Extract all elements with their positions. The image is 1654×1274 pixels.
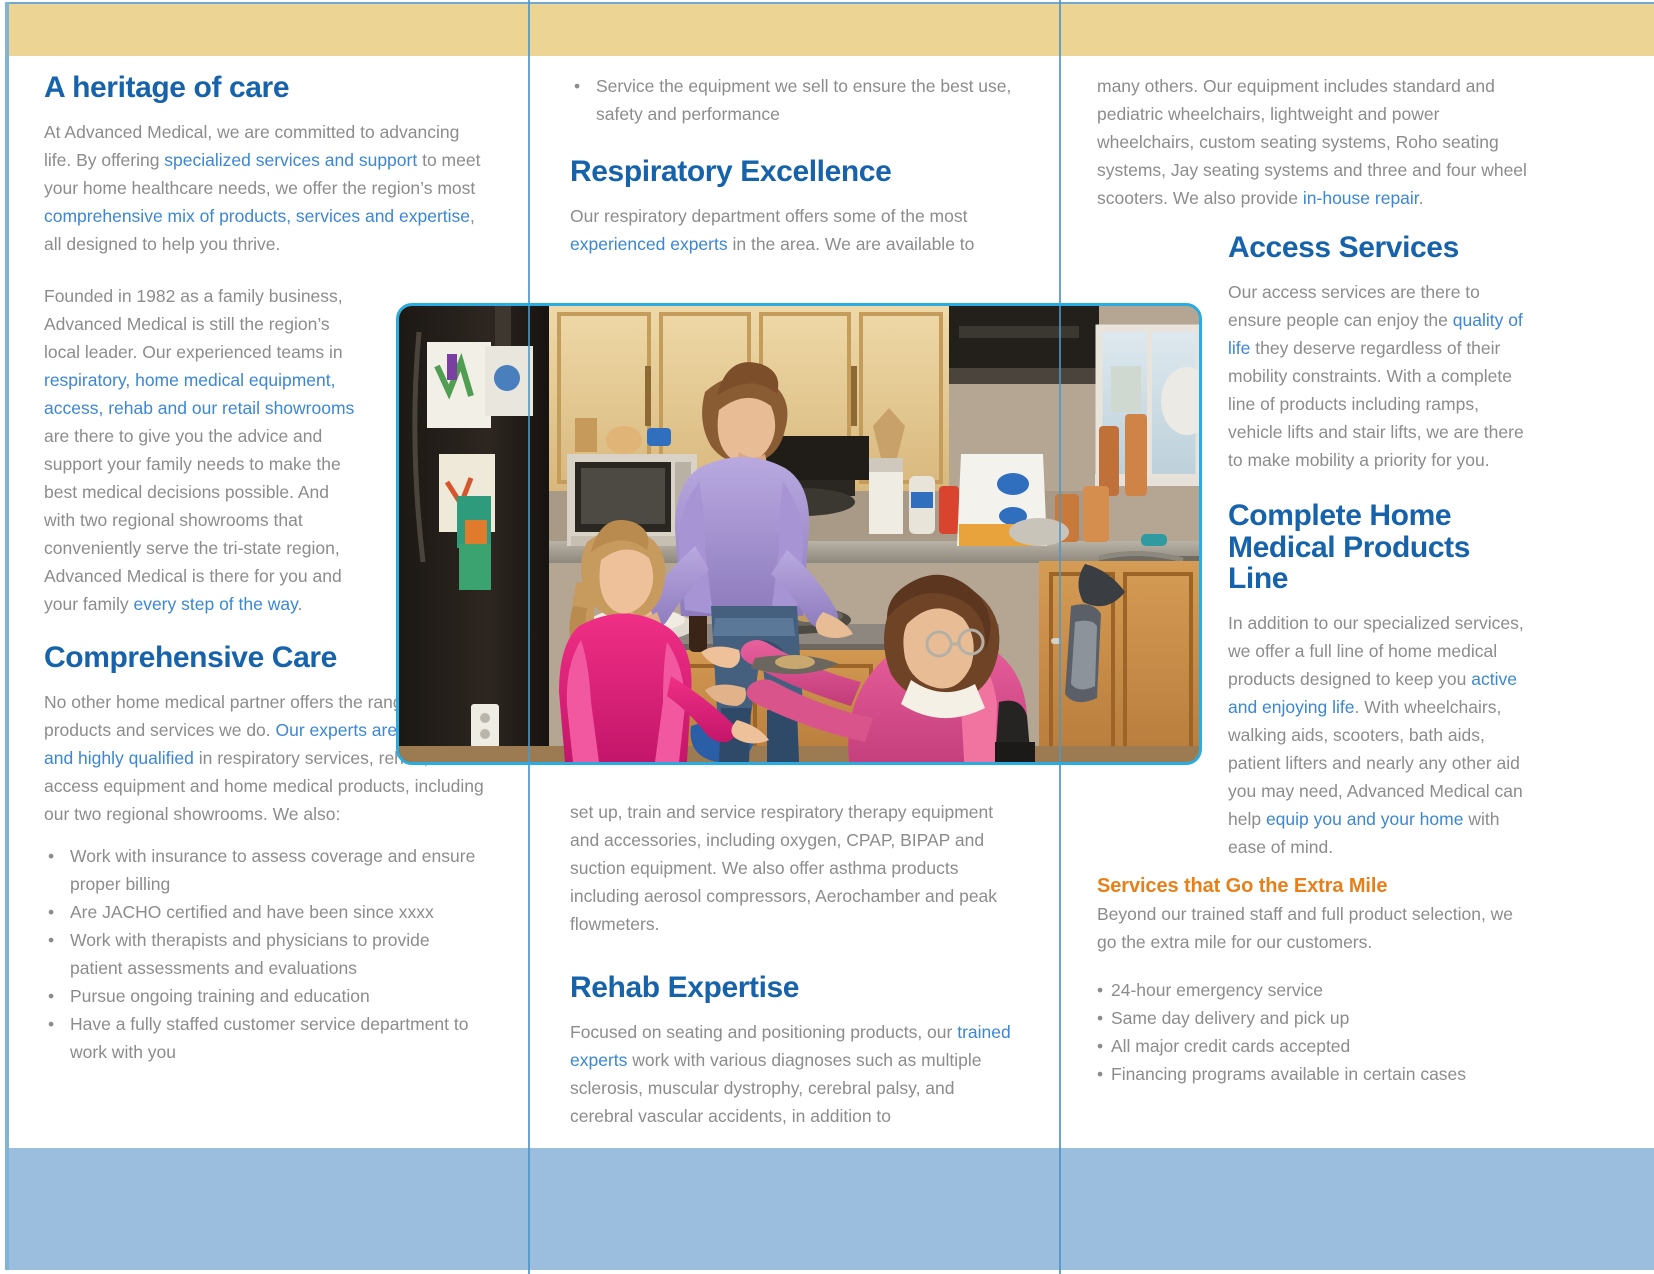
list-extra-services: •24-hour emergency service •Same day del… — [1097, 976, 1527, 1088]
left-edge-stripe — [5, 2, 9, 1270]
list-item: •Pursue ongoing training and education — [44, 982, 484, 1010]
list-item: •Same day delivery and pick up — [1097, 1004, 1527, 1032]
photo-fold-line-right — [1059, 306, 1061, 762]
bullet-dot-icon: • — [1097, 1060, 1103, 1088]
text-run: Our respiratory department offers some o… — [570, 206, 967, 226]
text-run: work with various diagnoses such as mult… — [570, 1050, 981, 1126]
text-run: Our access services are there to ensure … — [1228, 282, 1480, 330]
column-middle-top: •Service the equipment we sell to ensure… — [570, 72, 1015, 258]
list-item-label: Are JACHO certified and have been since … — [70, 902, 434, 922]
text-run: they deserve regardless of their mobilit… — [1228, 338, 1524, 470]
text-run: Founded in 1982 as a family business, Ad… — [44, 286, 343, 362]
bottom-blue-band — [8, 1148, 1654, 1270]
list-service-equipment: •Service the equipment we sell to ensure… — [570, 72, 1015, 128]
fold-line-left-top — [528, 0, 530, 303]
heading-rehab-expertise: Rehab Expertise — [570, 972, 1017, 1004]
list-item: •Financing programs available in certain… — [1097, 1060, 1527, 1088]
text-run: Focused on seating and positioning produ… — [570, 1022, 957, 1042]
link-comprehensive-mix[interactable]: comprehensive mix of products, services … — [44, 206, 470, 226]
list-item-label: Work with therapists and physicians to p… — [70, 930, 430, 978]
link-teams-list[interactable]: respiratory, home medical equipment, acc… — [44, 370, 354, 418]
list-item-label: Same day delivery and pick up — [1111, 1008, 1349, 1028]
top-cream-band — [8, 4, 1654, 56]
list-item-label: Have a fully staffed customer service de… — [70, 1014, 468, 1062]
heading-access-services: Access Services — [1228, 232, 1527, 264]
paragraph-rehab-detail: Focused on seating and positioning produ… — [570, 1018, 1017, 1130]
heading-complete-home-medical-products-line: Complete Home Medical Products Line — [1228, 500, 1527, 595]
link-in-house-repair[interactable]: in-house repair — [1303, 188, 1419, 208]
list-item: •Have a fully staffed customer service d… — [44, 1010, 484, 1066]
list-item-label: 24-hour emergency service — [1111, 980, 1323, 1000]
paragraph-equipment-list: many others. Our equipment includes stan… — [1097, 72, 1527, 212]
link-experienced-experts[interactable]: experienced experts — [570, 234, 728, 254]
fold-line-left-bottom — [528, 765, 530, 1274]
heading-services-extra-mile: Services that Go the Extra Mile — [1097, 875, 1527, 898]
paragraph-extra-mile: Beyond our trained staff and full produc… — [1097, 900, 1527, 956]
link-every-step[interactable]: every step of the way — [133, 594, 297, 614]
list-item-label: All major credit cards accepted — [1111, 1036, 1350, 1056]
fold-line-right-bottom — [1059, 765, 1061, 1274]
text-run: . — [1419, 188, 1424, 208]
heading-respiratory-excellence: Respiratory Excellence — [570, 156, 1015, 188]
fold-line-right-top — [1059, 0, 1061, 303]
text-run: are there to give you the advice and sup… — [44, 426, 342, 614]
list-item-label: Work with insurance to assess coverage a… — [70, 846, 475, 894]
list-item: •All major credit cards accepted — [1097, 1032, 1527, 1060]
bullet-dot-icon: • — [48, 926, 54, 954]
photo-illustration — [399, 306, 1199, 762]
bullet-dot-icon: • — [574, 72, 580, 100]
bullet-dot-icon: • — [48, 842, 54, 870]
list-item-label: Service the equipment we sell to ensure … — [596, 76, 1011, 124]
link-specialized-services[interactable]: specialized services and support — [164, 150, 417, 170]
list-item-label: Financing programs available in certain … — [1111, 1064, 1466, 1084]
bullet-dot-icon: • — [1097, 1004, 1103, 1032]
bullet-dot-icon: • — [48, 982, 54, 1010]
paragraph-heritage-intro: At Advanced Medical, we are committed to… — [44, 118, 484, 258]
list-item: •Service the equipment we sell to ensure… — [570, 72, 1015, 128]
right-indent-block: Access Services Our access services are … — [1228, 232, 1527, 595]
link-equip-you-and-your-home[interactable]: equip you and your home — [1266, 809, 1464, 829]
text-run: in the area. We are available to — [728, 234, 975, 254]
list-item: •Are JACHO certified and have been since… — [44, 898, 484, 926]
paragraph-product-line-part1: In addition to our specialized services,… — [1228, 609, 1527, 861]
brochure-page: A heritage of care At Advanced Medical, … — [0, 0, 1654, 1274]
paragraph-founded-1982: Founded in 1982 as a family business, Ad… — [44, 282, 364, 618]
list-item: •Work with therapists and physicians to … — [44, 926, 484, 982]
bullet-dot-icon: • — [48, 898, 54, 926]
kitchen-family-photo — [396, 303, 1202, 765]
list-we-also: •Work with insurance to assess coverage … — [44, 842, 484, 1066]
bullet-dot-icon: • — [1097, 976, 1103, 1004]
list-item-label: Pursue ongoing training and education — [70, 986, 370, 1006]
list-item: •Work with insurance to assess coverage … — [44, 842, 484, 898]
photo-fold-line-left — [528, 306, 530, 762]
heading-a-heritage-of-care: A heritage of care — [44, 72, 484, 104]
paragraph-respiratory-intro: Our respiratory department offers some o… — [570, 202, 1015, 258]
bullet-dot-icon: • — [1097, 1032, 1103, 1060]
paragraph-access-services: Our access services are there to ensure … — [1228, 278, 1527, 474]
list-item: •24-hour emergency service — [1097, 976, 1527, 1004]
paragraph-respiratory-detail: set up, train and service respiratory th… — [570, 798, 1017, 938]
bullet-dot-icon: • — [48, 1010, 54, 1038]
column-middle-bottom: set up, train and service respiratory th… — [570, 798, 1017, 1130]
text-run: . — [298, 594, 303, 614]
